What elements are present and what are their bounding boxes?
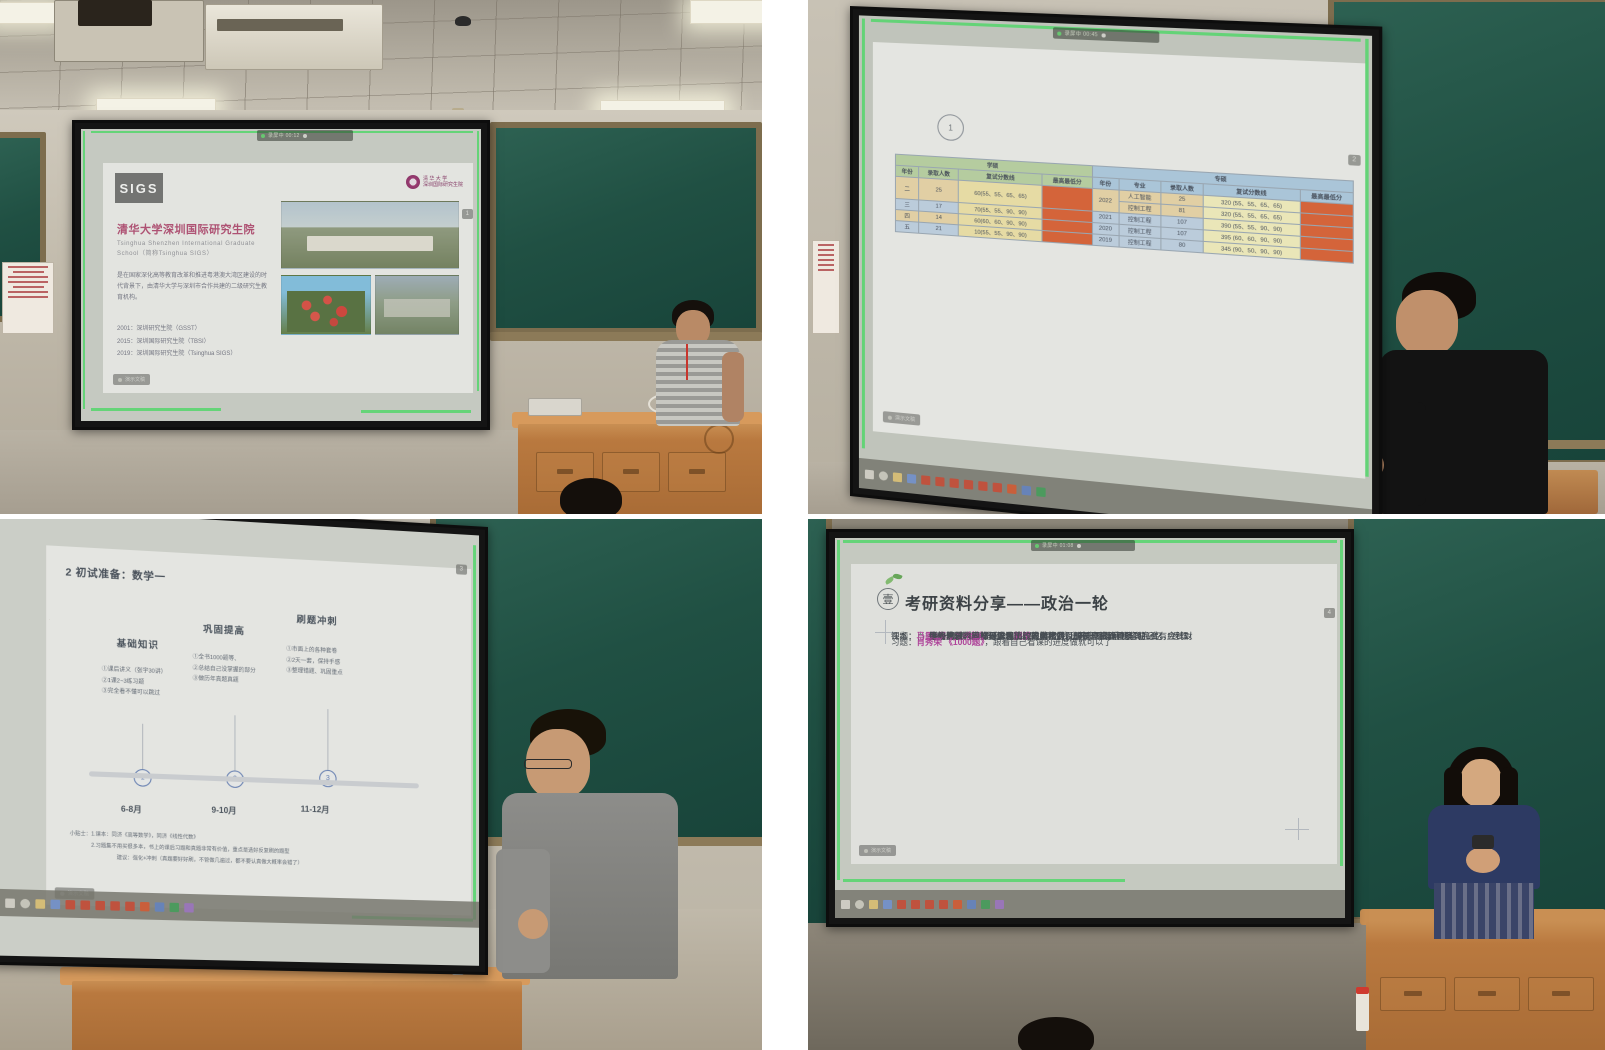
slide-sigs: SIGS 清 华 大 学 深圳国际研究生院 清华大学深圳国际研究生院 Tsing… xyxy=(103,163,473,393)
slide-title: 清华大学深圳国际研究生院 xyxy=(117,221,255,237)
projector-screen: 录屏中 01:08 壹 考研资料分享——政治一轮 课本：肖秀荣《精讲精 xyxy=(826,529,1354,927)
stage-stem xyxy=(327,709,328,772)
stage-heading: 巩固提高 xyxy=(203,622,245,637)
powerpoint-icon[interactable] xyxy=(1007,483,1016,493)
app-icon[interactable] xyxy=(95,900,105,910)
screen-green-edge-right xyxy=(1340,540,1343,866)
app-icon[interactable] xyxy=(1036,486,1045,496)
app-icon[interactable] xyxy=(1022,485,1031,495)
poster-line xyxy=(8,266,48,268)
app-icon[interactable] xyxy=(911,900,920,909)
screen-green-edge-left xyxy=(83,131,85,409)
leaf-icon xyxy=(892,572,902,580)
decor-tick-corner-v xyxy=(1298,818,1299,840)
stage-date: 9-10月 xyxy=(212,804,237,816)
podium-drawer xyxy=(1528,977,1594,1011)
year-item: 2015：深圳国际研究生院（TBSI） xyxy=(117,336,287,349)
projector-screen: 录屏中 00:12 SIGS 清 华 大 学 深圳国际研究生院 清华大学深圳国际… xyxy=(72,120,490,430)
stage-heading: 刷题冲刺 xyxy=(297,612,338,627)
app-icon[interactable] xyxy=(967,900,976,909)
stage-description: ①市面上的各种套卷 ②2天一套，保持手感 ③整理错题、巩固重点 xyxy=(286,644,406,682)
lanyard xyxy=(686,344,688,380)
app-icon[interactable] xyxy=(935,476,944,486)
body-label: 习题： xyxy=(891,637,917,647)
powerpoint-icon[interactable] xyxy=(140,901,150,911)
search-icon[interactable] xyxy=(855,900,864,909)
poster-line xyxy=(13,286,44,288)
screen-surface: 录屏中 00:45 1 学硕 专硕 年份 录取人数 复试分 xyxy=(859,15,1372,514)
stage-stem xyxy=(234,715,235,772)
air-conditioner-vent xyxy=(205,4,383,70)
poster-line xyxy=(8,281,48,283)
app-icon[interactable] xyxy=(184,903,193,912)
cell-year-left: 五 xyxy=(895,221,918,234)
stop-icon xyxy=(303,134,307,138)
screen-surface: 2 初试准备：数学一 基础知识 ①课后讲义（张宇30讲） ②1课2~3练习题 ③… xyxy=(0,519,479,966)
score-table: 学硕 专硕 年份 录取人数 复试分数线 最高最低分 年份 专业 录取人数 复试分… xyxy=(895,154,1354,264)
cell-flag xyxy=(1042,231,1092,246)
section-badge: 壹 xyxy=(877,588,899,610)
slide-politics: 壹 考研资料分享——政治一轮 课本：肖秀荣《精讲精练》（这本知识点非常甚至是过于… xyxy=(851,564,1337,864)
recorder-label: 录屏中 01:08 xyxy=(1042,542,1074,549)
year-item: 2001：深圳研究生院（GSST） xyxy=(117,323,287,336)
cell-year: 2022 xyxy=(1092,188,1119,212)
tsinghua-logo-line1: 清 华 大 学 xyxy=(423,176,447,182)
ceiling-light xyxy=(0,2,60,24)
app-icon[interactable] xyxy=(897,900,906,909)
start-icon[interactable] xyxy=(5,898,15,908)
search-icon[interactable] xyxy=(879,470,888,480)
recorder-label: 录屏中 00:45 xyxy=(1065,30,1098,39)
wall-poster xyxy=(812,240,840,334)
slide-corner-number: 3 xyxy=(456,564,467,575)
tsinghua-seal-icon xyxy=(406,175,420,189)
panel-math-timeline: 2 初试准备：数学一 基础知识 ①课后讲义（张宇30讲） ②1课2~3练习题 ③… xyxy=(0,519,762,1050)
app-icon[interactable] xyxy=(155,902,164,912)
tsinghua-logo-text: 清 华 大 学 深圳国际研究生院 xyxy=(423,176,463,189)
cell-count: 80 xyxy=(1161,238,1204,252)
projector-screen: 录屏中 00:45 1 学硕 专硕 年份 录取人数 复试分 xyxy=(850,6,1382,514)
poster-line xyxy=(818,249,834,251)
app-icon[interactable] xyxy=(981,900,990,909)
podium-drawer xyxy=(668,452,726,492)
arm xyxy=(722,352,744,422)
projector-screen: 2 初试准备：数学一 基础知识 ①课后讲义（张宇30讲） ②1课2~3练习题 ③… xyxy=(0,519,488,975)
screen-surface: 录屏中 00:12 SIGS 清 华 大 学 深圳国际研究生院 清华大学深圳国际… xyxy=(81,129,481,421)
presenter-black-shirt-mic xyxy=(1368,272,1568,512)
poster-line xyxy=(8,296,48,298)
cell-year: 2019 xyxy=(1092,234,1119,247)
chip-icon xyxy=(118,378,122,382)
cell-flag xyxy=(1042,185,1092,211)
podium-emblem xyxy=(704,424,734,454)
stage-heading: 基础知识 xyxy=(117,636,159,651)
stop-icon xyxy=(1077,544,1081,548)
recording-indicator-icon xyxy=(1035,544,1039,548)
podium xyxy=(72,981,522,1050)
chip-label: 演示文稿 xyxy=(895,414,915,423)
screen-recorder-toolbar[interactable]: 录屏中 00:12 xyxy=(257,130,353,141)
browser-icon[interactable] xyxy=(907,473,916,483)
projector-body xyxy=(78,0,152,26)
screen-green-edge-right xyxy=(473,545,476,920)
panel-score-table: 录屏中 00:45 1 学硕 专硕 年份 录取人数 复试分 xyxy=(808,0,1605,514)
hand xyxy=(518,909,548,939)
start-icon[interactable] xyxy=(841,900,850,909)
laptop xyxy=(528,398,582,416)
screen-green-edge-left xyxy=(837,540,840,880)
slide-score-table: 1 学硕 专硕 年份 录取人数 复试分数线 最高最低分 年份 专业 xyxy=(873,42,1365,479)
app-icon[interactable] xyxy=(995,900,1004,909)
slide-photo-campus xyxy=(375,275,459,335)
slide-photo-gate xyxy=(281,201,459,269)
slide-circle-label: 1 xyxy=(937,114,964,142)
app-icon[interactable] xyxy=(921,475,930,485)
tsinghua-logo: 清 华 大 学 深圳国际研究生院 xyxy=(406,175,463,189)
poster-line xyxy=(818,244,834,246)
slide-corner-number: 4 xyxy=(1324,608,1335,618)
explorer-icon[interactable] xyxy=(35,899,45,909)
poster-line xyxy=(818,254,834,256)
screen-green-edge-bottom-right xyxy=(361,410,471,413)
recording-indicator-icon xyxy=(1057,31,1061,35)
slide-title: 2 初试准备：数学一 xyxy=(65,563,165,584)
stage-stem xyxy=(142,724,143,771)
powerpoint-icon[interactable] xyxy=(953,900,962,909)
poster-line xyxy=(13,271,44,273)
screen-green-edge-bottom xyxy=(91,408,221,411)
app-icon[interactable] xyxy=(170,902,179,911)
slide-year-list: 2001：深圳研究生院（GSST） 2015：深圳国际研究生院（TBSI） 20… xyxy=(117,323,287,361)
ceiling-light xyxy=(690,0,762,24)
cell-count-left: 25 xyxy=(919,178,959,203)
search-icon[interactable] xyxy=(20,898,30,908)
screen-green-edge-bottom xyxy=(843,879,1125,882)
screen-green-edge-right xyxy=(477,131,479,391)
explorer-icon[interactable] xyxy=(869,900,878,909)
decor-tick-corner xyxy=(1285,829,1309,830)
slide-corner-number: 2 xyxy=(1348,154,1361,165)
presenter-female-navy-top xyxy=(1414,747,1554,937)
slide-notes: 小贴士：1.课本：同济《高等数学》，同济《线性代数》 2.习题集不用买很多本，书… xyxy=(70,829,453,874)
photo-grid: 录屏中 00:12 SIGS 清 华 大 学 深圳国际研究生院 清华大学深圳国际… xyxy=(0,0,1605,1050)
head xyxy=(1460,759,1502,807)
recording-indicator-icon xyxy=(261,134,265,138)
wall-poster xyxy=(2,262,54,334)
bottle xyxy=(1356,991,1369,1031)
slide-body-text: 是在国家深化高等教育改革和推进粤港澳大湾区建设的时代背景下，由清华大学与深圳市合… xyxy=(117,271,269,304)
app-icon[interactable] xyxy=(80,900,90,910)
poster-line xyxy=(8,276,48,278)
slide-status-chip[interactable]: 演示文稿 xyxy=(883,411,920,426)
start-icon[interactable] xyxy=(865,469,874,479)
app-icon[interactable] xyxy=(978,481,987,491)
head xyxy=(1396,290,1458,356)
slide-math-timeline: 2 初试准备：数学一 基础知识 ①课后讲义（张宇30讲） ②1课2~3练习题 ③… xyxy=(46,545,471,915)
slide-english-subtitle: Tsinghua Shenzhen International Graduate… xyxy=(117,239,269,259)
cell-count-left: 21 xyxy=(919,222,959,236)
poster-line xyxy=(818,269,834,271)
glasses-icon xyxy=(524,759,572,769)
plaid-skirt xyxy=(1434,883,1534,939)
poster-line xyxy=(8,291,48,293)
panel-politics-materials: 录屏中 01:08 壹 考研资料分享——政治一轮 课本：肖秀荣《精讲精 xyxy=(808,519,1605,1050)
windows-taskbar[interactable] xyxy=(835,890,1345,918)
slide-photo-flower xyxy=(281,275,371,335)
hand xyxy=(1466,847,1500,873)
chip-icon xyxy=(864,849,868,853)
podium-drawer xyxy=(1380,977,1446,1011)
chip-label: 演示文稿 xyxy=(125,376,145,383)
tsinghua-logo-line2: 深圳国际研究生院 xyxy=(423,182,463,188)
chip-label: 演示文稿 xyxy=(871,847,891,854)
presenter-grey-tshirt-mic xyxy=(496,709,686,979)
screen-green-edge-left xyxy=(862,18,865,448)
browser-icon[interactable] xyxy=(50,899,60,909)
body-text: ，跟着自己看课的进度做就可以了 xyxy=(985,637,1113,647)
cell-flag xyxy=(1300,248,1353,263)
slide-corner-number: 1 xyxy=(462,209,473,219)
browser-icon[interactable] xyxy=(883,900,892,909)
cell-year-left: 二 xyxy=(895,176,918,200)
slide-status-chip[interactable]: 演示文稿 xyxy=(859,845,896,856)
chip-icon xyxy=(888,415,892,419)
body-line: 习题：肖秀荣 《1000题》，跟着自己看课的进度做就可以了 xyxy=(891,636,1112,649)
recorder-label: 录屏中 00:12 xyxy=(268,132,300,139)
slide-status-chip[interactable]: 演示文稿 xyxy=(113,374,150,385)
highlight-mark: 肖秀荣 《1000题》 xyxy=(917,637,985,647)
app-icon[interactable] xyxy=(964,479,973,489)
app-icon[interactable] xyxy=(65,899,75,909)
stage-date: 6-8月 xyxy=(121,803,142,815)
screen-surface: 录屏中 01:08 壹 考研资料分享——政治一轮 课本：肖秀荣《精讲精 xyxy=(835,538,1345,918)
app-icon[interactable] xyxy=(993,482,1002,492)
audience-head xyxy=(560,478,622,514)
poster-line xyxy=(818,264,834,266)
sigs-logo: SIGS xyxy=(115,173,163,203)
panel-tsinghua-sigs: 录屏中 00:12 SIGS 清 华 大 学 深圳国际研究生院 清华大学深圳国际… xyxy=(0,0,762,514)
presenter-striped-shirt xyxy=(656,300,746,425)
app-icon[interactable] xyxy=(925,900,934,909)
cell-major: 控制工程 xyxy=(1119,236,1161,250)
year-item: 2019：深圳国际研究生院（Tsinghua SIGS） xyxy=(117,348,287,361)
poster-line xyxy=(818,259,834,261)
stop-icon xyxy=(1101,33,1105,37)
screen-green-edge-right xyxy=(1365,39,1368,477)
app-icon[interactable] xyxy=(125,901,135,911)
slide-title: 考研资料分享——政治一轮 xyxy=(905,590,1109,614)
microphone-held-icon xyxy=(1472,835,1494,849)
security-camera xyxy=(455,16,471,26)
app-icon[interactable] xyxy=(110,901,120,911)
podium-drawer xyxy=(1454,977,1520,1011)
stage-date: 11-12月 xyxy=(301,803,330,815)
bottle-cap xyxy=(1356,987,1369,994)
screen-recorder-toolbar[interactable]: 录屏中 01:08 xyxy=(1031,540,1135,551)
app-icon[interactable] xyxy=(950,478,959,488)
explorer-icon[interactable] xyxy=(893,472,902,482)
app-icon[interactable] xyxy=(939,900,948,909)
